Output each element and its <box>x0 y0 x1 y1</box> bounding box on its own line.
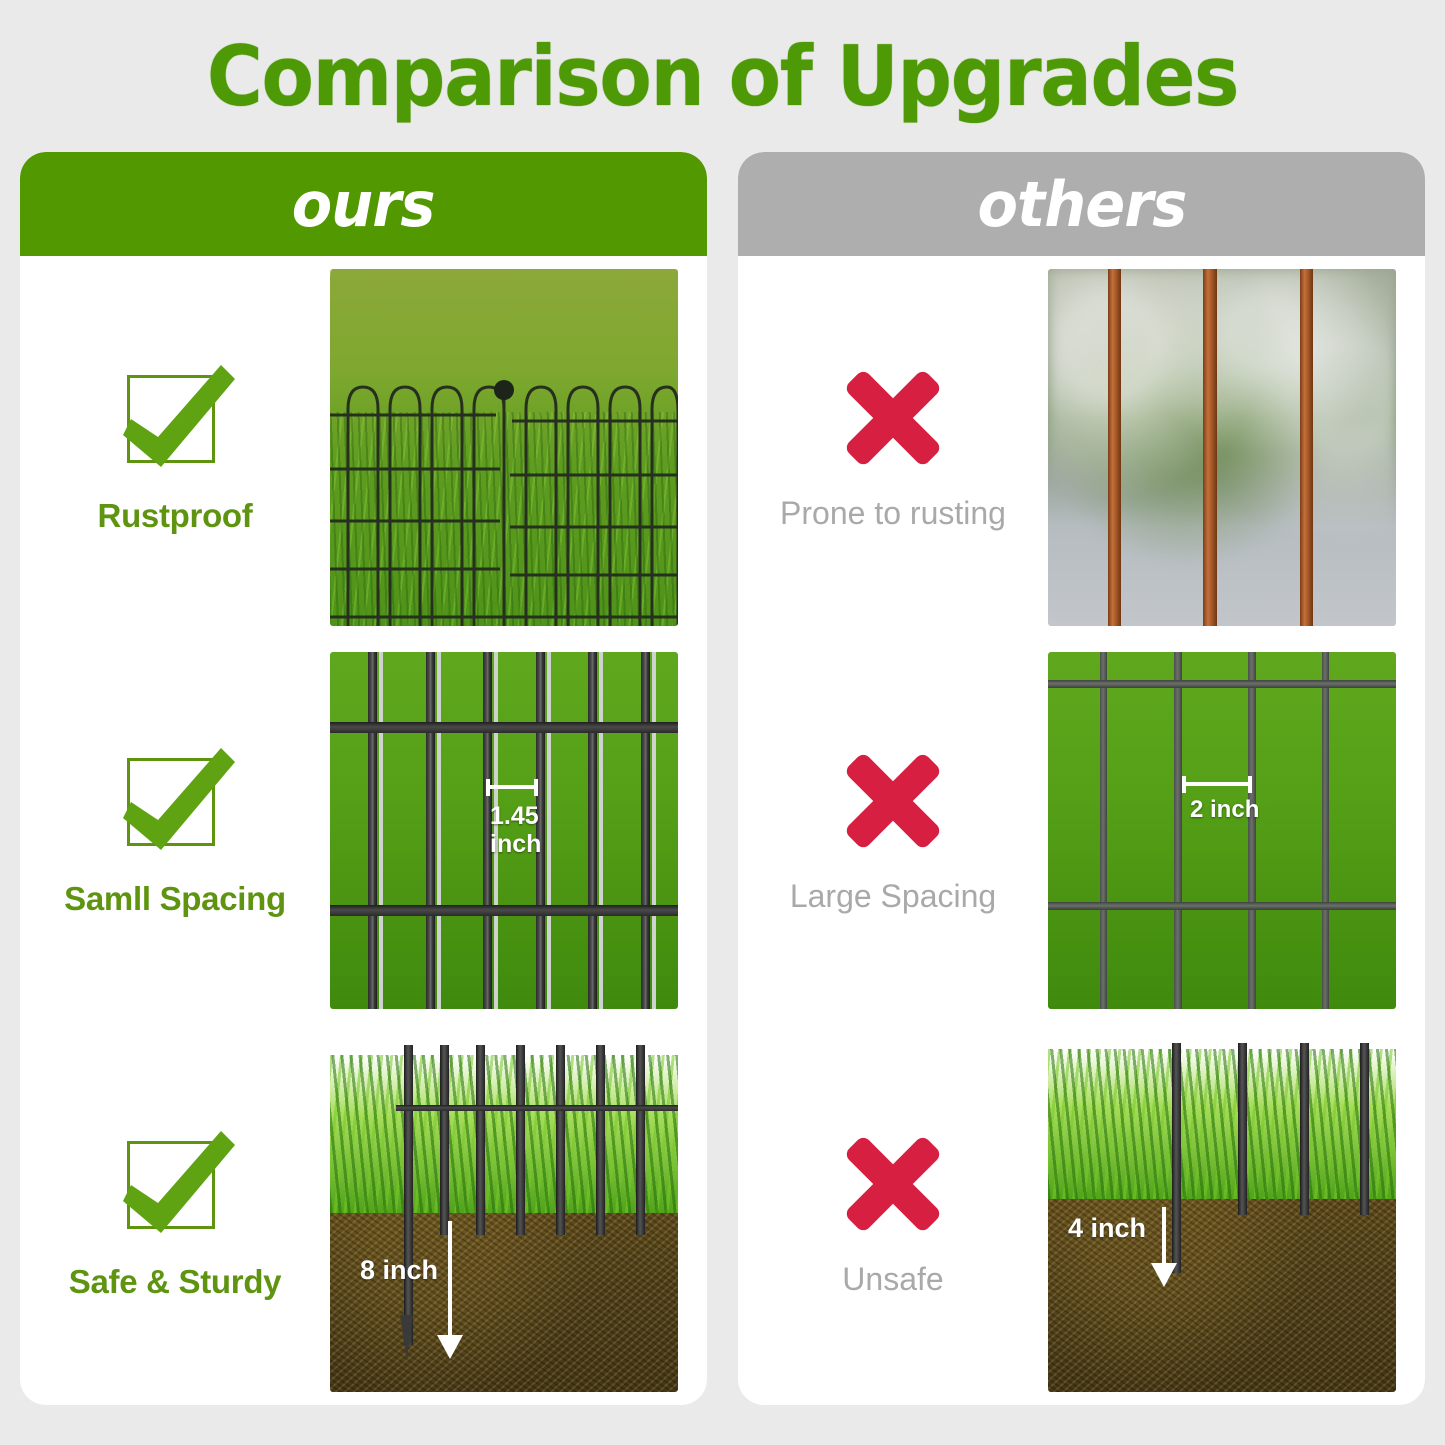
depth-arrow-head <box>437 1335 463 1359</box>
check-mark-glyph <box>109 361 241 481</box>
ours-rows: Rustproof <box>20 256 707 1405</box>
dimension-label: 1.45 inch <box>490 802 541 858</box>
depth-arrow-line <box>448 1221 452 1341</box>
others-header-label: others <box>977 168 1186 241</box>
dimension-label: 2 inch <box>1190 797 1259 824</box>
photo-deep-stake: 8 inch <box>330 1035 678 1392</box>
ours-feature-sturdy: Safe & Sturdy <box>20 1127 330 1301</box>
ours-feature-spacing: Samll Spacing <box>20 744 330 918</box>
check-mark-glyph <box>109 1127 241 1247</box>
arch-fence-graphic <box>330 269 678 626</box>
ours-row-rustproof: Rustproof <box>20 256 707 639</box>
ours-feature-label: Safe & Sturdy <box>69 1263 282 1301</box>
dimension-caliper <box>486 779 538 797</box>
others-feature-label: Large Spacing <box>790 878 996 915</box>
others-media-spacing: 2 inch <box>1048 652 1425 1009</box>
depth-arrow-head <box>1151 1263 1177 1287</box>
others-feature-label: Unsafe <box>842 1261 943 1298</box>
others-media-unsafe: 4 inch <box>1048 1035 1425 1392</box>
others-row-rusting: Prone to rusting <box>738 256 1425 639</box>
ours-feature-rustproof: Rustproof <box>20 361 330 535</box>
dimension-label: 8 inch <box>360 1255 438 1285</box>
others-rows: Prone to rusting <box>738 256 1425 1405</box>
check-icon <box>109 1127 241 1247</box>
ours-card-header: ours <box>20 152 707 256</box>
photo-narrow-spacing: 1.45 inch <box>330 652 678 1009</box>
dimension-label: 4 inch <box>1068 1213 1146 1243</box>
dimension-caliper <box>1182 776 1252 794</box>
ours-row-sturdy: Safe & Sturdy <box>20 1022 707 1405</box>
x-icon <box>838 746 948 856</box>
others-feature-rusting: Prone to rusting <box>738 363 1048 532</box>
ours-media-sturdy: 8 inch <box>330 1035 707 1392</box>
ours-feature-label: Samll Spacing <box>64 880 286 918</box>
ours-card: ours Rustproof <box>20 152 707 1405</box>
others-row-spacing: Large Spacing 2 inch <box>738 639 1425 1022</box>
ours-row-spacing: Samll Spacing <box>20 639 707 1022</box>
others-card: others Prone to rusting <box>738 152 1425 1405</box>
others-feature-label: Prone to rusting <box>780 495 1006 532</box>
others-media-rusting <box>1048 269 1425 626</box>
others-feature-spacing: Large Spacing <box>738 746 1048 915</box>
photo-shallow-stake: 4 inch <box>1048 1035 1396 1392</box>
photo-arch-fence-rain <box>330 269 678 626</box>
others-card-header: others <box>738 152 1425 256</box>
check-icon <box>109 744 241 864</box>
photo-wide-spacing: 2 inch <box>1048 652 1396 1009</box>
x-icon <box>838 1129 948 1239</box>
check-mark-glyph <box>109 744 241 864</box>
depth-arrow-line <box>1162 1207 1166 1269</box>
photo-rusted-grid <box>1048 269 1396 626</box>
others-feature-unsafe: Unsafe <box>738 1129 1048 1298</box>
ours-media-spacing: 1.45 inch <box>330 652 707 1009</box>
page-title: Comparison of Upgrades <box>58 28 1387 125</box>
ours-header-label: ours <box>292 168 435 241</box>
stake-tip <box>400 1315 418 1361</box>
x-icon <box>838 363 948 473</box>
ours-feature-label: Rustproof <box>98 497 253 535</box>
others-row-unsafe: Unsafe 4 inch <box>738 1022 1425 1405</box>
ours-media-rustproof <box>330 269 707 626</box>
comparison-infographic: Comparison of Upgrades ours Rustproof <box>0 0 1445 1445</box>
check-icon <box>109 361 241 481</box>
